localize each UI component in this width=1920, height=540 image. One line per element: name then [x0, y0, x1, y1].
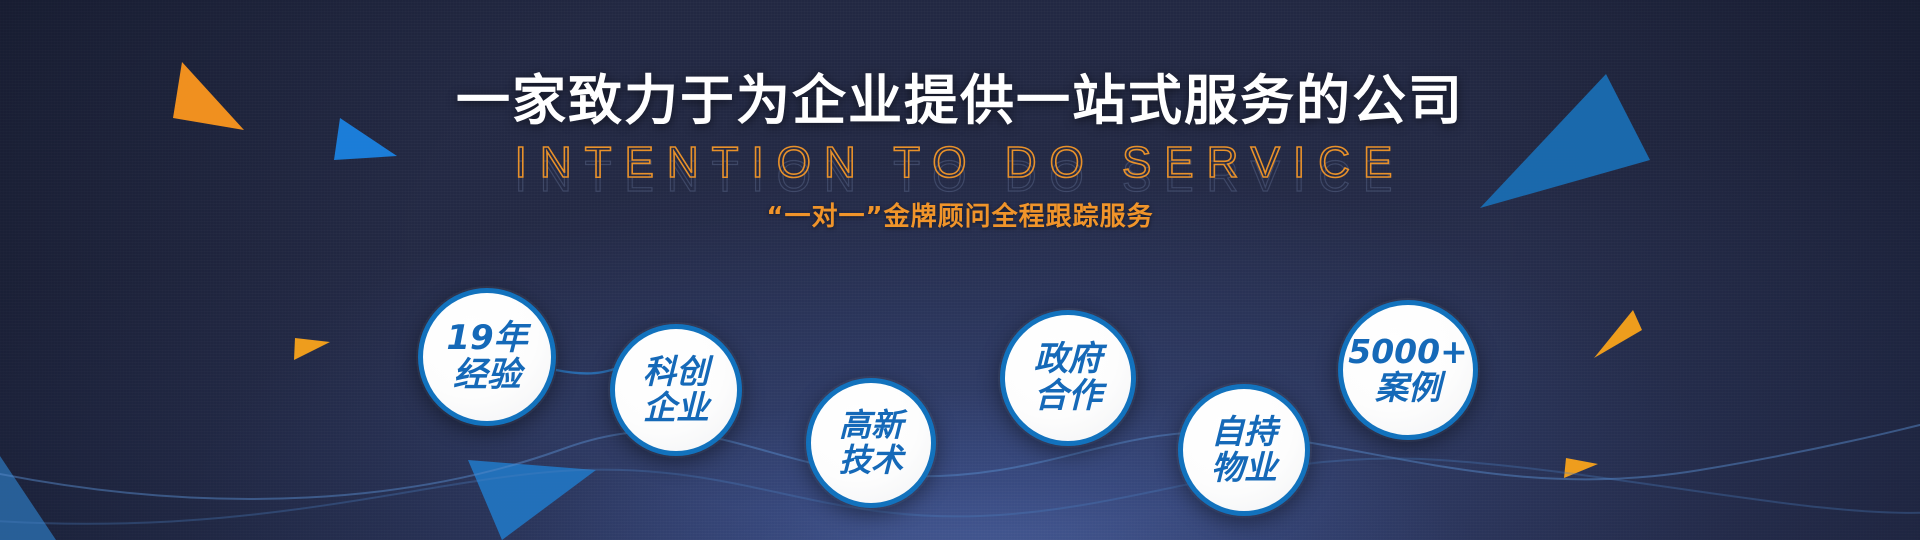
- badge-line2: 物业: [1211, 451, 1277, 485]
- badge-high-new-technology[interactable]: 高新 技术: [806, 378, 936, 508]
- badge-5000-plus-cases[interactable]: 5000+ 案例: [1338, 300, 1478, 440]
- badge-line2: 经验: [453, 358, 521, 393]
- badge-tech-innovation-enterprise[interactable]: 科创 企业: [610, 324, 742, 456]
- badge-19-years-experience[interactable]: 19年 经验: [418, 288, 556, 426]
- badge-line1: 19年: [446, 321, 527, 356]
- badge-line2: 案例: [1375, 371, 1441, 405]
- badge-government-cooperation[interactable]: 政府 合作: [1000, 310, 1136, 446]
- badge-line1: 政府: [1034, 342, 1102, 377]
- badge-line2: 企业: [643, 391, 709, 425]
- badge-line1: 自持: [1211, 415, 1277, 449]
- badge-owned-property[interactable]: 自持 物业: [1178, 384, 1310, 516]
- badge-line1: 5000+: [1348, 335, 1468, 369]
- badge-line1: 高新: [839, 409, 903, 442]
- badges-layer: 19年 经验 科创 企业 高新 技术 政府 合作 自持 物业 5000+ 案例: [0, 0, 1920, 540]
- promo-banner: INTENTION TO DO SERVICE 一家致力于为企业提供一站式服务的…: [0, 0, 1920, 540]
- badge-line2: 技术: [839, 444, 903, 477]
- badge-line1: 科创: [643, 355, 709, 389]
- badge-line2: 合作: [1034, 379, 1102, 414]
